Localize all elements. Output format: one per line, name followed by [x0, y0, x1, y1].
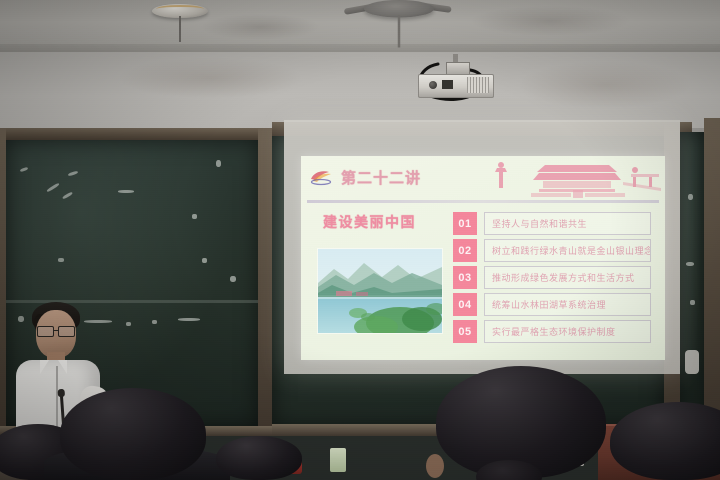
student-head [60, 388, 206, 480]
chalk-dot [690, 300, 695, 305]
classroom-scene: 第二十二讲 [0, 0, 720, 480]
student-center [420, 364, 620, 480]
list-item[interactable]: 05 实行最严格生态环境保护制度 [453, 320, 651, 343]
list-item-number: 02 [453, 239, 477, 262]
slide-header: 第二十二讲 [301, 156, 665, 200]
chalk-dot [688, 194, 693, 200]
ceiling-projector [418, 62, 492, 96]
slide-points-list: 01 坚持人与自然和谐共生 02 树立和践行绿水青山就是金山银山理念 03 推动… [453, 212, 651, 347]
list-item-text: 实行最严格生态环境保护制度 [484, 320, 651, 343]
party-emblem-icon [309, 168, 335, 186]
list-item[interactable]: 02 树立和践行绿水青山就是金山银山理念 [453, 239, 651, 262]
slide-section-title: 建设美丽中国 [323, 212, 416, 232]
board-eraser [685, 350, 699, 374]
list-item[interactable]: 04 统筹山水林田湖草系统治理 [453, 293, 651, 316]
list-item-number: 04 [453, 293, 477, 316]
chalk-mark [686, 262, 694, 266]
green-bottle [330, 448, 346, 472]
chalk-dot [202, 258, 207, 263]
shirt-collar [58, 360, 67, 374]
chalk-dot [192, 214, 197, 219]
wall-stain [120, 58, 300, 98]
student-mid [216, 436, 302, 480]
chalkboard-frame-divider [258, 128, 272, 428]
list-item-number: 03 [453, 266, 477, 289]
slide-header-divider [307, 200, 659, 203]
list-item-text: 统筹山水林田湖草系统治理 [484, 293, 651, 316]
list-item[interactable]: 03 推动形成绿色发展方式和生活方式 [453, 266, 651, 289]
list-item-text: 树立和践行绿水青山就是金山银山理念 [484, 239, 651, 262]
tiananmen-gate-icon [481, 160, 661, 198]
chalk-dot [126, 322, 131, 326]
chalk-mark [118, 190, 134, 193]
projector-knob [442, 80, 453, 89]
ceiling-beam [0, 44, 720, 52]
projector-vents [467, 77, 489, 93]
wall-stain [520, 62, 690, 108]
chalk-dot [216, 160, 221, 167]
chalk-dot [58, 258, 64, 262]
list-item-number: 01 [453, 212, 477, 235]
ceiling-stain [200, 14, 320, 40]
chalk-mark [68, 171, 78, 177]
lamp-rod [179, 16, 181, 42]
list-item[interactable]: 01 坚持人与自然和谐共生 [453, 212, 651, 235]
ceiling-fan-right-icon [364, 0, 434, 20]
chalk-mark [20, 167, 29, 173]
student-head [610, 402, 720, 480]
student-ear [426, 454, 444, 478]
glasses-icon [36, 326, 76, 335]
fan-rod [398, 15, 401, 48]
student-head [216, 436, 302, 480]
list-item-number: 05 [453, 320, 477, 343]
chalk-dot [152, 320, 157, 324]
chalkboard-frame-top [0, 128, 270, 140]
chalk-mark [178, 318, 200, 321]
ceiling-stain [470, 6, 630, 36]
chalk-mark [46, 183, 59, 193]
projector-lens [429, 81, 437, 89]
student-left [60, 388, 210, 480]
landscape-photo [317, 248, 443, 334]
list-item-text: 推动形成绿色发展方式和生活方式 [484, 266, 651, 289]
ceiling-lamp-left-icon [152, 4, 208, 20]
shirt-collar [40, 360, 49, 374]
list-item-text: 坚持人与自然和谐共生 [484, 212, 651, 235]
student-right [610, 402, 720, 480]
slide-lecture-title: 第二十二讲 [341, 167, 421, 188]
presentation-slide: 第二十二讲 [301, 156, 665, 360]
chalk-dot [230, 276, 236, 282]
chalk-mark [62, 191, 73, 199]
lamp-ring [156, 5, 204, 13]
chalkboard-right [680, 132, 704, 428]
chalkboard-frame-right [704, 118, 720, 430]
